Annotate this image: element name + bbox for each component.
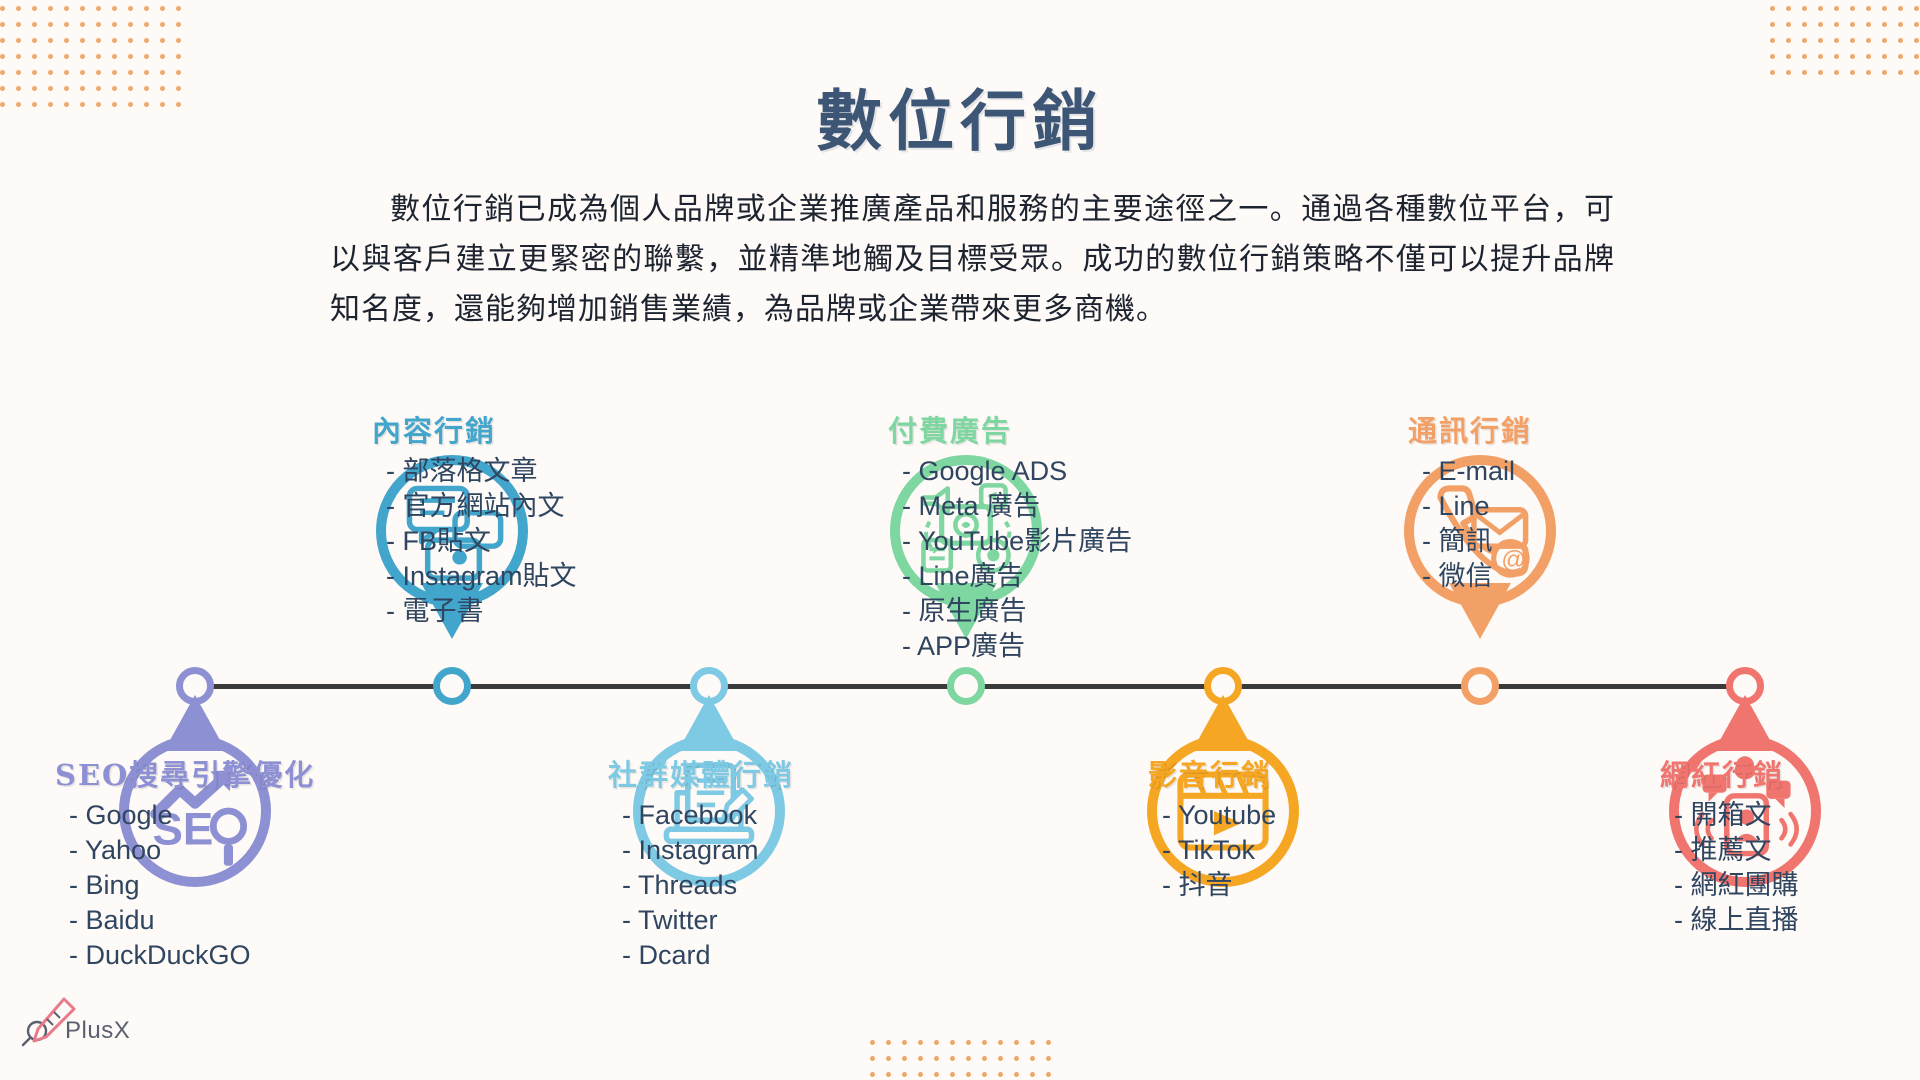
list-item: 抖音	[1162, 868, 1276, 903]
list-item: 微信	[1422, 559, 1532, 594]
list-item: 電子書	[386, 594, 577, 629]
list-item: Line	[1422, 489, 1532, 524]
section-heading-content: 內容行銷	[372, 408, 577, 450]
plusx-logo: PlusX	[20, 995, 150, 1057]
intro-paragraph: 數位行銷已成為個人品牌或企業推廣產品和服務的主要途徑之一。通過各種數位平台，可以…	[330, 185, 1615, 335]
section-heading-seo: SEO搜尋引擎優化	[55, 752, 315, 794]
list-item: Twitter	[622, 903, 794, 938]
section-list-video: YoutubeTikTok抖音	[1148, 798, 1276, 903]
section-heading-social: 社群媒體行銷	[608, 752, 794, 794]
section-heading-influencer: 網紅行銷	[1660, 752, 1799, 794]
list-item: Google	[69, 798, 315, 833]
list-item: Youtube	[1162, 798, 1276, 833]
list-item: Google ADS	[902, 454, 1132, 489]
list-item: Instagram	[622, 833, 794, 868]
list-item: Meta 廣告	[902, 489, 1132, 524]
timeline-node-paid-ads[interactable]	[947, 667, 985, 705]
list-item: FB貼文	[386, 524, 577, 559]
list-item: 推薦文	[1674, 833, 1799, 868]
section-list-content: 部落格文章官方網站內文FB貼文Instagram貼文電子書	[372, 454, 577, 629]
list-item: 開箱文	[1674, 798, 1799, 833]
list-item: Facebook	[622, 798, 794, 833]
section-list-social: FacebookInstagramThreadsTwitterDcard	[608, 798, 794, 973]
list-item: Bing	[69, 868, 315, 903]
list-item: 部落格文章	[386, 454, 577, 489]
section-block-video: 影音行銷YoutubeTikTok抖音	[1148, 752, 1276, 903]
section-block-messaging: 通訊行銷E-mailLine簡訊微信	[1408, 408, 1532, 594]
section-list-messaging: E-mailLine簡訊微信	[1408, 454, 1532, 594]
section-block-paid-ads: 付費廣告Google ADSMeta 廣告YouTube影片廣告Line廣告原生…	[888, 408, 1132, 664]
list-item: YouTube影片廣告	[902, 524, 1132, 559]
section-block-influencer: 網紅行銷開箱文推薦文網紅團購線上直播	[1660, 752, 1799, 938]
section-block-social: 社群媒體行銷FacebookInstagramThreadsTwitterDca…	[608, 752, 794, 973]
section-block-content: 內容行銷部落格文章官方網站內文FB貼文Instagram貼文電子書	[372, 408, 577, 629]
list-item: E-mail	[1422, 454, 1532, 489]
list-item: Yahoo	[69, 833, 315, 868]
list-item: APP廣告	[902, 629, 1132, 664]
list-item: Threads	[622, 868, 794, 903]
list-item: Instagram貼文	[386, 559, 577, 594]
infographic-canvas: 數位行銷 數位行銷已成為個人品牌或企業推廣產品和服務的主要途徑之一。通過各種數位…	[0, 0, 1920, 1080]
list-item: 原生廣告	[902, 594, 1132, 629]
list-item: Baidu	[69, 903, 315, 938]
list-item: Dcard	[622, 938, 794, 973]
timeline-node-content[interactable]	[433, 667, 471, 705]
plusx-logo-text: PlusX	[65, 1017, 130, 1045]
section-heading-paid-ads: 付費廣告	[888, 408, 1132, 450]
timeline-node-messaging[interactable]	[1461, 667, 1499, 705]
list-item: 網紅團購	[1674, 868, 1799, 903]
list-item: 簡訊	[1422, 524, 1532, 559]
list-item: Line廣告	[902, 559, 1132, 594]
list-item: 線上直播	[1674, 903, 1799, 938]
section-heading-messaging: 通訊行銷	[1408, 408, 1532, 450]
section-block-seo: SEO搜尋引擎優化GoogleYahooBingBaiduDuckDuckGO	[55, 752, 315, 973]
section-list-seo: GoogleYahooBingBaiduDuckDuckGO	[55, 798, 315, 973]
section-list-paid-ads: Google ADSMeta 廣告YouTube影片廣告Line廣告原生廣告AP…	[888, 454, 1132, 664]
section-heading-video: 影音行銷	[1148, 752, 1276, 794]
list-item: TikTok	[1162, 833, 1276, 868]
list-item: 官方網站內文	[386, 489, 577, 524]
section-list-influencer: 開箱文推薦文網紅團購線上直播	[1660, 798, 1799, 938]
list-item: DuckDuckGO	[69, 938, 315, 973]
page-title: 數位行銷	[0, 68, 1920, 164]
